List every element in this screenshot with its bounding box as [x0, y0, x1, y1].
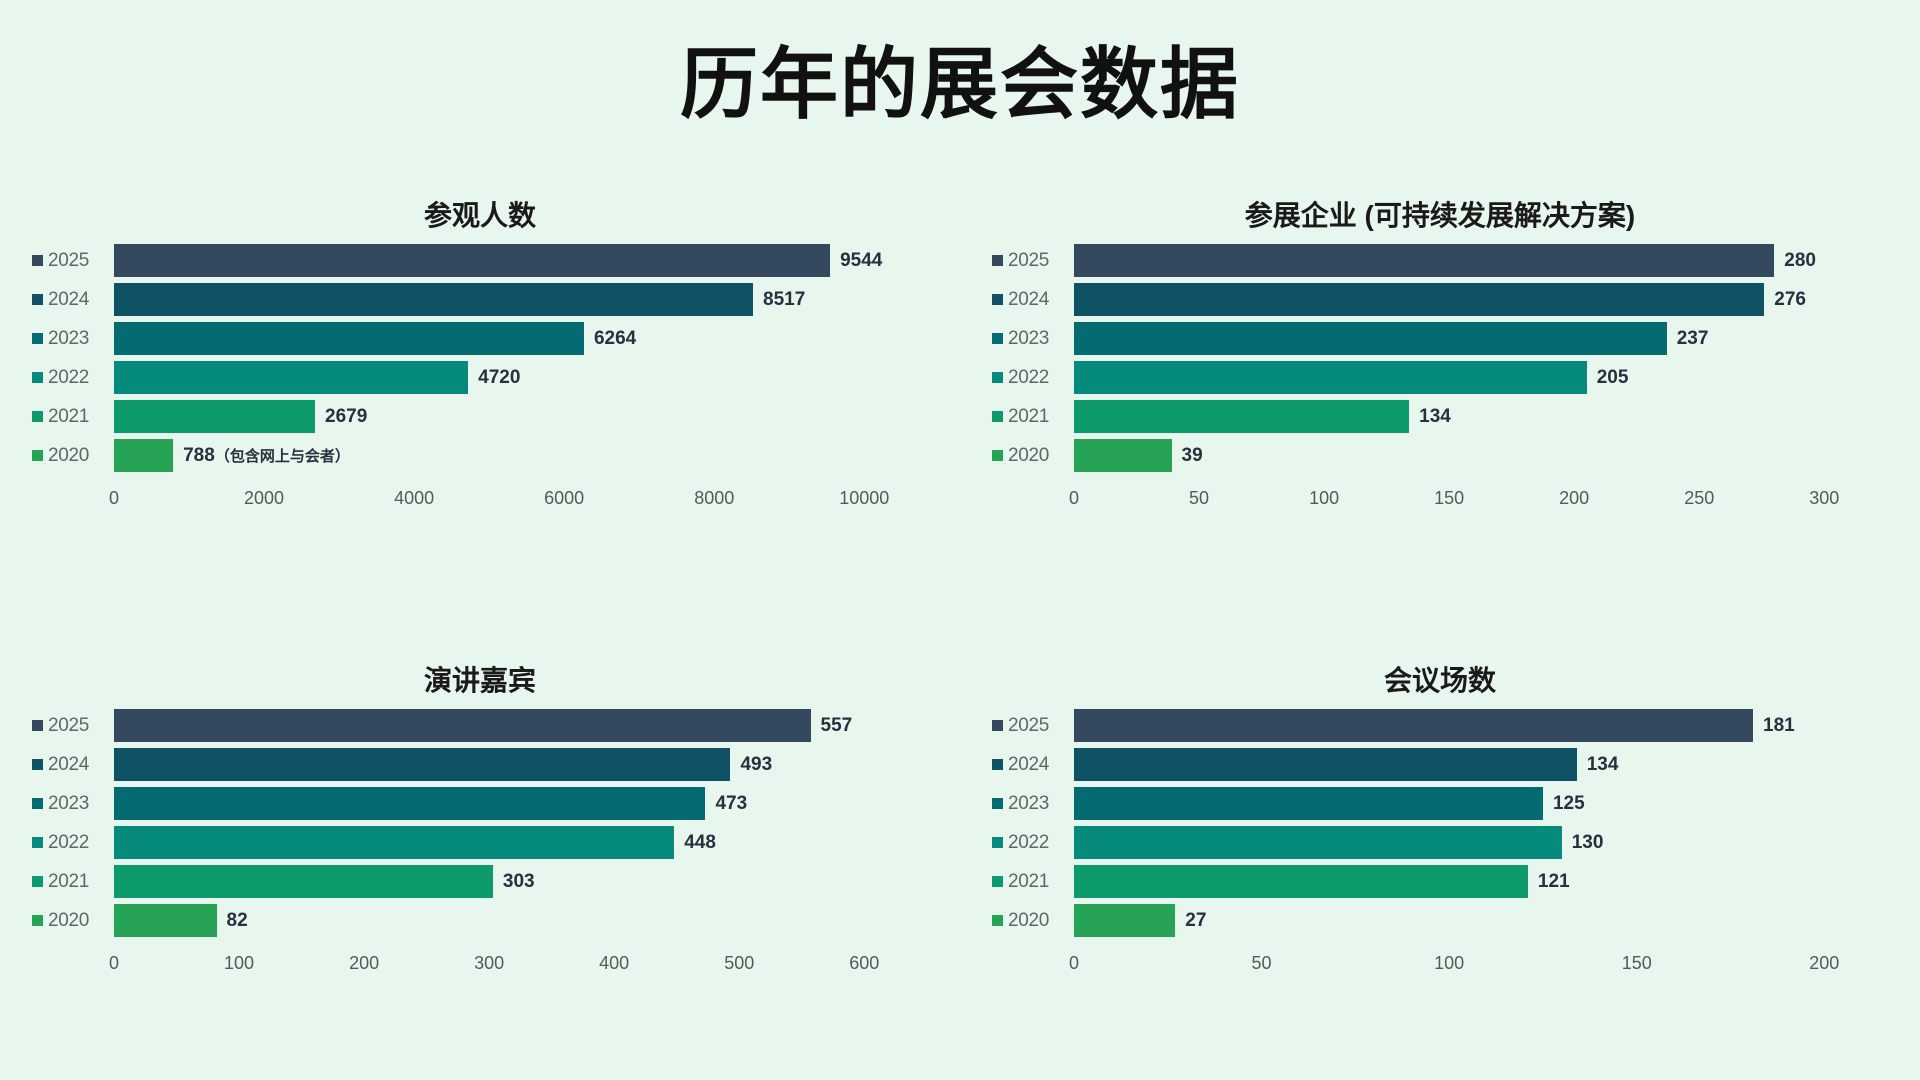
bar-value-label: 788（包含网上与会者）	[183, 445, 350, 467]
chart-title: 参观人数	[26, 194, 934, 234]
legend-item-2022[interactable]: 2022	[26, 367, 114, 389]
axis-tick-label: 10000	[839, 488, 889, 509]
bar-2022[interactable]	[1074, 361, 1587, 394]
chart-title: 演讲嘉宾	[26, 659, 934, 699]
legend-label: 2023	[1008, 793, 1049, 815]
bar-row: 20236264	[26, 322, 934, 355]
legend-label: 2024	[1008, 289, 1049, 311]
axis-tick-label: 8000	[694, 488, 734, 509]
bar-2023[interactable]	[114, 322, 584, 355]
bar-value-label: 125	[1553, 793, 1585, 815]
legend-label: 2020	[1008, 445, 1049, 467]
bar-2024[interactable]	[114, 283, 753, 316]
bar-2022[interactable]	[114, 361, 468, 394]
legend-label: 2022	[1008, 367, 1049, 389]
axis-tick-label: 0	[1069, 953, 1079, 974]
legend-item-2021[interactable]: 2021	[986, 871, 1074, 893]
legend-label: 2025	[48, 250, 89, 272]
legend-item-2023[interactable]: 2023	[986, 328, 1074, 350]
bar-row: 20224720	[26, 361, 934, 394]
legend-swatch-icon	[32, 411, 43, 422]
chart-title: 参展企业 (可持续发展解决方案)	[986, 194, 1894, 234]
bar-value-label: 130	[1572, 832, 1604, 854]
axis-tick-label: 300	[474, 953, 504, 974]
bar-track: 2679	[114, 400, 934, 433]
legend-swatch-icon	[992, 915, 1003, 926]
legend-item-2020[interactable]: 2020	[26, 910, 114, 932]
bar-track: 276	[1074, 283, 1894, 316]
bar-value-label: 557	[821, 715, 853, 737]
axis-tick-label: 100	[1309, 488, 1339, 509]
chart-panel-sessions: 会议场数 20251812024134202312520221302021121…	[960, 633, 1920, 1080]
axis-spacer	[26, 953, 114, 979]
bar-2023[interactable]	[114, 787, 705, 820]
bar-2024[interactable]	[114, 748, 730, 781]
axis-tick-label: 300	[1809, 488, 1839, 509]
bar-track: 448	[114, 826, 934, 859]
legend-label: 2024	[48, 754, 89, 776]
bar-value-label: 276	[1774, 289, 1806, 311]
legend-swatch-icon	[992, 411, 1003, 422]
legend-item-2021[interactable]: 2021	[986, 406, 1074, 428]
bar-row: 20259544	[26, 244, 934, 277]
legend-label: 2023	[1008, 328, 1049, 350]
legend-label: 2025	[48, 715, 89, 737]
legend-label: 2025	[1008, 250, 1049, 272]
infographic-page: 历年的展会数据 参观人数 202595442024851720236264202…	[0, 0, 1920, 1080]
legend-item-2022[interactable]: 2022	[986, 832, 1074, 854]
bar-track: 134	[1074, 400, 1894, 433]
legend-swatch-icon	[992, 372, 1003, 383]
x-axis: 0100200300400500600	[26, 953, 934, 979]
legend-item-2023[interactable]: 2023	[26, 793, 114, 815]
legend-label: 2020	[48, 445, 89, 467]
bar-value-label: 121	[1538, 871, 1570, 893]
bar-row: 2025557	[26, 709, 934, 742]
bar-track: 39	[1074, 439, 1894, 472]
legend-item-2024[interactable]: 2024	[986, 289, 1074, 311]
bar-row: 2022205	[986, 361, 1894, 394]
legend-swatch-icon	[32, 798, 43, 809]
bar-row: 2022448	[26, 826, 934, 859]
legend-item-2022[interactable]: 2022	[26, 832, 114, 854]
bar-row: 2023125	[986, 787, 1894, 820]
axis-spacer	[986, 488, 1074, 514]
bar-2020[interactable]	[1074, 904, 1175, 937]
legend-item-2023[interactable]: 2023	[26, 328, 114, 350]
legend-item-2025[interactable]: 2025	[986, 715, 1074, 737]
bar-track: 82	[114, 904, 934, 937]
axis-tick-label: 250	[1684, 488, 1714, 509]
chart-panel-exhibitors: 参展企业 (可持续发展解决方案) 20252802024276202323720…	[960, 186, 1920, 633]
axis-tick-label: 4000	[394, 488, 434, 509]
bar-2020[interactable]	[114, 439, 173, 472]
axis-ticks: 050100150200	[1074, 953, 1894, 979]
legend-label: 2021	[48, 406, 89, 428]
bar-2024[interactable]	[1074, 283, 1764, 316]
bar-2022[interactable]	[1074, 826, 1562, 859]
bar-value-label: 493	[740, 754, 772, 776]
x-axis: 050100150200	[986, 953, 1894, 979]
axis-tick-label: 0	[109, 488, 119, 509]
bar-value-label: 39	[1182, 445, 1203, 467]
axis-tick-label: 150	[1622, 953, 1652, 974]
bar-track: 473	[114, 787, 934, 820]
legend-swatch-icon	[32, 837, 43, 848]
bar-2025[interactable]	[114, 244, 830, 277]
bar-value-label: 280	[1784, 250, 1816, 272]
bar-2024[interactable]	[1074, 748, 1577, 781]
bar-track: 788（包含网上与会者）	[114, 439, 934, 472]
bar-value-label: 9544	[840, 250, 882, 272]
legend-label: 2021	[1008, 871, 1049, 893]
legend-swatch-icon	[992, 837, 1003, 848]
bar-track: 205	[1074, 361, 1894, 394]
legend-label: 2023	[48, 793, 89, 815]
legend-swatch-icon	[992, 294, 1003, 305]
chart-title: 会议场数	[986, 659, 1894, 699]
legend-label: 2020	[1008, 910, 1049, 932]
legend-swatch-icon	[32, 759, 43, 770]
legend-swatch-icon	[32, 720, 43, 731]
legend-item-2024[interactable]: 2024	[986, 754, 1074, 776]
legend-item-2020[interactable]: 2020	[986, 910, 1074, 932]
legend-label: 2025	[1008, 715, 1049, 737]
bar-value-label: 134	[1587, 754, 1619, 776]
legend-swatch-icon	[32, 294, 43, 305]
bar-value-label: 134	[1419, 406, 1451, 428]
bar-track: 237	[1074, 322, 1894, 355]
bar-row: 2025181	[986, 709, 1894, 742]
bar-track: 130	[1074, 826, 1894, 859]
bar-value-label: 27	[1185, 910, 1206, 932]
legend-item-2024[interactable]: 2024	[26, 754, 114, 776]
legend-label: 2023	[48, 328, 89, 350]
legend-swatch-icon	[992, 333, 1003, 344]
axis-tick-label: 100	[1434, 953, 1464, 974]
bar-2022[interactable]	[114, 826, 674, 859]
bar-row: 2021303	[26, 865, 934, 898]
legend-label: 2022	[48, 832, 89, 854]
bar-2025[interactable]	[1074, 244, 1774, 277]
legend-item-2025[interactable]: 2025	[986, 250, 1074, 272]
legend-swatch-icon	[32, 915, 43, 926]
bar-row: 2025280	[986, 244, 1894, 277]
bar-2023[interactable]	[1074, 322, 1667, 355]
bar-value-label: 473	[715, 793, 747, 815]
axis-tick-label: 100	[224, 953, 254, 974]
legend-swatch-icon	[32, 255, 43, 266]
bar-row: 202027	[986, 904, 1894, 937]
bar-2021[interactable]	[1074, 400, 1409, 433]
legend-item-2025[interactable]: 2025	[26, 250, 114, 272]
bar-row: 2023473	[26, 787, 934, 820]
axis-tick-label: 6000	[544, 488, 584, 509]
bar-2020[interactable]	[1074, 439, 1172, 472]
bar-2021[interactable]	[114, 400, 315, 433]
bar-value-label: 181	[1763, 715, 1795, 737]
axis-tick-label: 150	[1434, 488, 1464, 509]
legend-swatch-icon	[992, 759, 1003, 770]
axis-ticks: 0100200300400500600	[114, 953, 934, 979]
axis-tick-label: 200	[1809, 953, 1839, 974]
legend-swatch-icon	[32, 333, 43, 344]
bar-track: 6264	[114, 322, 934, 355]
plot-area: 2025181202413420231252022130202112120202…	[986, 709, 1894, 943]
plot-area: 2025280202427620232372022205202113420203…	[986, 244, 1894, 478]
axis-spacer	[986, 953, 1074, 979]
legend-swatch-icon	[992, 798, 1003, 809]
axis-tick-label: 2000	[244, 488, 284, 509]
bar-row: 2024134	[986, 748, 1894, 781]
legend-item-2020[interactable]: 2020	[986, 445, 1074, 467]
bar-value-label: 205	[1597, 367, 1629, 389]
legend-label: 2024	[48, 289, 89, 311]
bar-track: 27	[1074, 904, 1894, 937]
x-axis: 0200040006000800010000	[26, 488, 934, 514]
bar-value-note: （包含网上与会者）	[215, 448, 350, 465]
bar-2021[interactable]	[114, 865, 493, 898]
axis-tick-label: 50	[1189, 488, 1209, 509]
legend-swatch-icon	[992, 720, 1003, 731]
axis-tick-label: 600	[849, 953, 879, 974]
bar-track: 9544	[114, 244, 934, 277]
legend-label: 2020	[48, 910, 89, 932]
axis-tick-label: 500	[724, 953, 754, 974]
x-axis: 050100150200250300	[986, 488, 1894, 514]
bar-value-label: 6264	[594, 328, 636, 350]
plot-area: 2025557202449320234732022448202130320208…	[26, 709, 934, 943]
bar-track: 125	[1074, 787, 1894, 820]
legend-item-2023[interactable]: 2023	[986, 793, 1074, 815]
bar-2023[interactable]	[1074, 787, 1543, 820]
bar-track: 303	[114, 865, 934, 898]
axis-tick-label: 50	[1252, 953, 1272, 974]
plot-area: 2025954420248517202362642022472020212679…	[26, 244, 934, 478]
bar-2021[interactable]	[1074, 865, 1528, 898]
legend-swatch-icon	[32, 876, 43, 887]
legend-label: 2021	[48, 871, 89, 893]
legend-item-2020[interactable]: 2020	[26, 445, 114, 467]
legend-label: 2021	[1008, 406, 1049, 428]
bar-row: 2022130	[986, 826, 1894, 859]
bar-track: 181	[1074, 709, 1894, 742]
bar-track: 280	[1074, 244, 1894, 277]
bar-value-label: 237	[1677, 328, 1709, 350]
legend-item-2024[interactable]: 2024	[26, 289, 114, 311]
axis-spacer	[26, 488, 114, 514]
legend-swatch-icon	[992, 450, 1003, 461]
legend-swatch-icon	[992, 255, 1003, 266]
bar-value-label: 4720	[478, 367, 520, 389]
legend-item-2025[interactable]: 2025	[26, 715, 114, 737]
bar-2025[interactable]	[1074, 709, 1753, 742]
legend-label: 2024	[1008, 754, 1049, 776]
bar-track: 121	[1074, 865, 1894, 898]
axis-tick-label: 0	[109, 953, 119, 974]
bar-value-label: 82	[227, 910, 248, 932]
bar-value-label: 2679	[325, 406, 367, 428]
page-title: 历年的展会数据	[0, 0, 1920, 130]
bar-track: 557	[114, 709, 934, 742]
bar-value-label: 448	[684, 832, 716, 854]
bar-row: 202082	[26, 904, 934, 937]
bar-2025[interactable]	[114, 709, 811, 742]
bar-row: 2021121	[986, 865, 1894, 898]
bar-row: 2024276	[986, 283, 1894, 316]
chart-grid: 参观人数 20259544202485172023626420224720202…	[0, 186, 1920, 1080]
axis-tick-label: 0	[1069, 488, 1079, 509]
legend-item-2021[interactable]: 2021	[26, 406, 114, 428]
bar-2020[interactable]	[114, 904, 217, 937]
bar-row: 2020788（包含网上与会者）	[26, 439, 934, 472]
legend-label: 2022	[48, 367, 89, 389]
axis-ticks: 0200040006000800010000	[114, 488, 934, 514]
chart-panel-visitors: 参观人数 20259544202485172023626420224720202…	[0, 186, 960, 633]
legend-item-2022[interactable]: 2022	[986, 367, 1074, 389]
axis-tick-label: 200	[1559, 488, 1589, 509]
axis-tick-label: 200	[349, 953, 379, 974]
bar-row: 2023237	[986, 322, 1894, 355]
bar-row: 202039	[986, 439, 1894, 472]
legend-swatch-icon	[992, 876, 1003, 887]
bar-value-label: 8517	[763, 289, 805, 311]
bar-row: 20248517	[26, 283, 934, 316]
legend-swatch-icon	[32, 372, 43, 383]
chart-panel-speakers: 演讲嘉宾 20255572024493202347320224482021303…	[0, 633, 960, 1080]
bar-value-label: 303	[503, 871, 535, 893]
legend-item-2021[interactable]: 2021	[26, 871, 114, 893]
axis-ticks: 050100150200250300	[1074, 488, 1894, 514]
bar-track: 493	[114, 748, 934, 781]
legend-label: 2022	[1008, 832, 1049, 854]
bar-row: 2024493	[26, 748, 934, 781]
bar-row: 20212679	[26, 400, 934, 433]
bar-track: 8517	[114, 283, 934, 316]
bar-row: 2021134	[986, 400, 1894, 433]
bar-track: 134	[1074, 748, 1894, 781]
bar-track: 4720	[114, 361, 934, 394]
axis-tick-label: 400	[599, 953, 629, 974]
legend-swatch-icon	[32, 450, 43, 461]
